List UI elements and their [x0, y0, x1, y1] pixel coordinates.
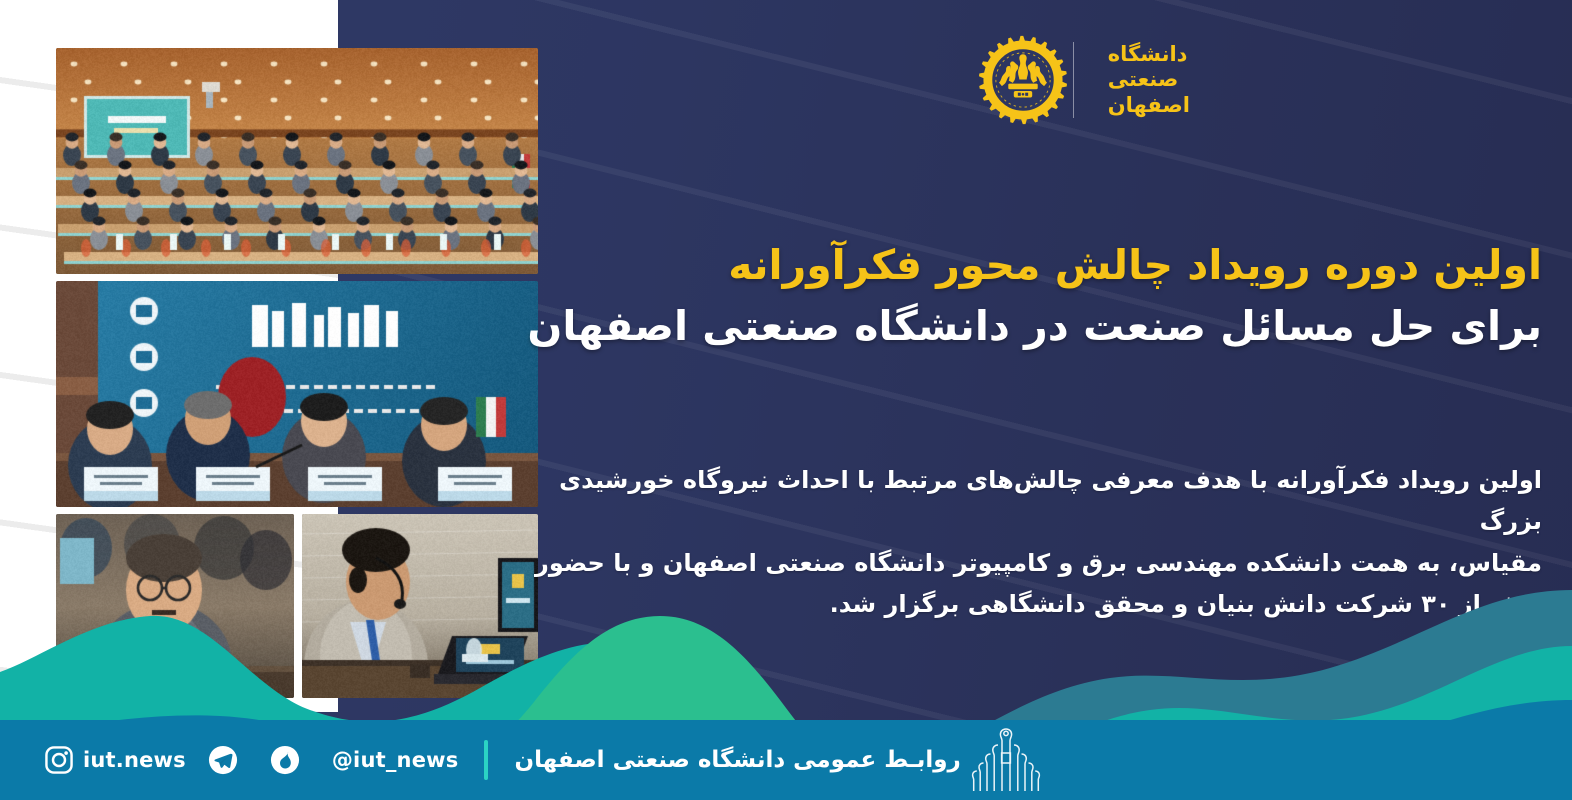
- poster-canvas: دانشگاه صنعتی اصفهان: [0, 0, 1572, 800]
- headline: اولین دوره رویداد چالش محور فکرآورانه بر…: [612, 238, 1542, 353]
- telegram-icon[interactable]: [208, 745, 238, 775]
- iut-gear-emblem-icon: [977, 34, 1069, 126]
- photo-panel-speakers: [56, 281, 538, 507]
- messaging-links[interactable]: @iut_news: [208, 745, 459, 775]
- instagram-handle[interactable]: iut.news: [83, 748, 186, 772]
- university-logo-wordmark: دانشگاه صنعتی اصفهان: [1090, 43, 1190, 118]
- iut-archway-icon: [965, 725, 1047, 795]
- university-logo: دانشگاه صنعتی اصفهان: [977, 34, 1190, 126]
- public-relations-label: روابـط عمومی دانشگاه صنعتی اصفهان: [514, 747, 960, 773]
- footer-divider: [484, 740, 488, 780]
- instagram-link[interactable]: iut.news: [44, 745, 186, 775]
- footer-bar: iut.news @iut_news روابـط عمومی دانشگا: [0, 720, 1572, 800]
- headline-line-2: برای حل مسائل صنعت در دانشگاه صنعتی اصفه…: [612, 299, 1542, 354]
- headline-line-1: اولین دوره رویداد چالش محور فکرآورانه: [612, 238, 1542, 293]
- logo-line-3: اصفهان: [1108, 94, 1190, 118]
- logo-line-2: صنعتی: [1108, 68, 1179, 92]
- instagram-icon[interactable]: [44, 745, 74, 775]
- footer-content: iut.news @iut_news روابـط عمومی دانشگا: [44, 720, 1061, 800]
- body-line-1: اولین رویداد فکرآورانه با هدف معرفی چالش…: [532, 460, 1542, 543]
- logo-line-1: دانشگاه: [1108, 43, 1188, 67]
- eitaa-icon[interactable]: [270, 745, 300, 775]
- photo-conference-hall: [56, 48, 538, 274]
- messaging-handle[interactable]: @iut_news: [332, 748, 459, 772]
- logo-divider: [1073, 42, 1074, 118]
